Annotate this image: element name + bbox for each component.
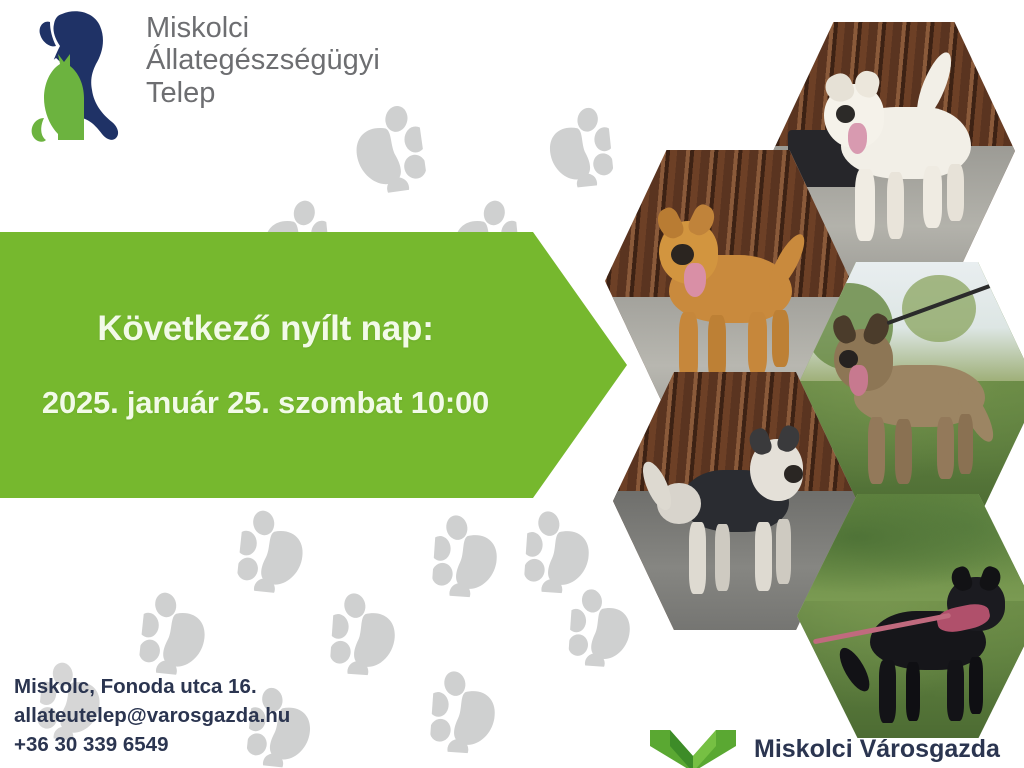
brand-logo: Miskolci Állategészségügyi Telep — [22, 6, 442, 151]
paw-print-icon — [138, 580, 234, 680]
photo-hex-cluster — [585, 0, 1024, 730]
contact-email[interactable]: allateutelep@varosgazda.hu — [14, 701, 290, 730]
paw-print-icon — [236, 498, 332, 598]
dog-cat-silhouette-logo — [22, 6, 132, 146]
contact-block: Miskolc, Fonoda utca 16. allateutelep@va… — [14, 672, 290, 759]
brand-line-3: Telep — [146, 77, 380, 109]
banner-datetime: 2025. január 25. szombat 10:00 — [0, 385, 531, 421]
varosgazda-wordmark: Miskolci Városgazda — [754, 735, 1000, 764]
contact-phone[interactable]: +36 30 339 6549 — [14, 730, 290, 759]
brand-line-1: Miskolci — [146, 12, 380, 44]
paw-print-icon — [429, 659, 523, 756]
brand-wordmark: Miskolci Állategészségügyi Telep — [146, 6, 380, 109]
varosgazda-logo: Miskolci Városgazda — [650, 726, 1000, 768]
poster-canvas: Következő nyílt nap: 2025. január 25. sz… — [0, 0, 1024, 768]
banner-headline: Következő nyílt nap: — [0, 309, 531, 349]
paw-print-icon — [329, 581, 423, 678]
event-banner: Következő nyílt nap: 2025. január 25. sz… — [0, 232, 627, 498]
brand-line-2: Állategészségügyi — [146, 44, 380, 76]
paw-print-icon — [431, 503, 525, 600]
varosgazda-chevron-icon — [650, 726, 736, 768]
contact-address: Miskolc, Fonoda utca 16. — [14, 672, 290, 701]
